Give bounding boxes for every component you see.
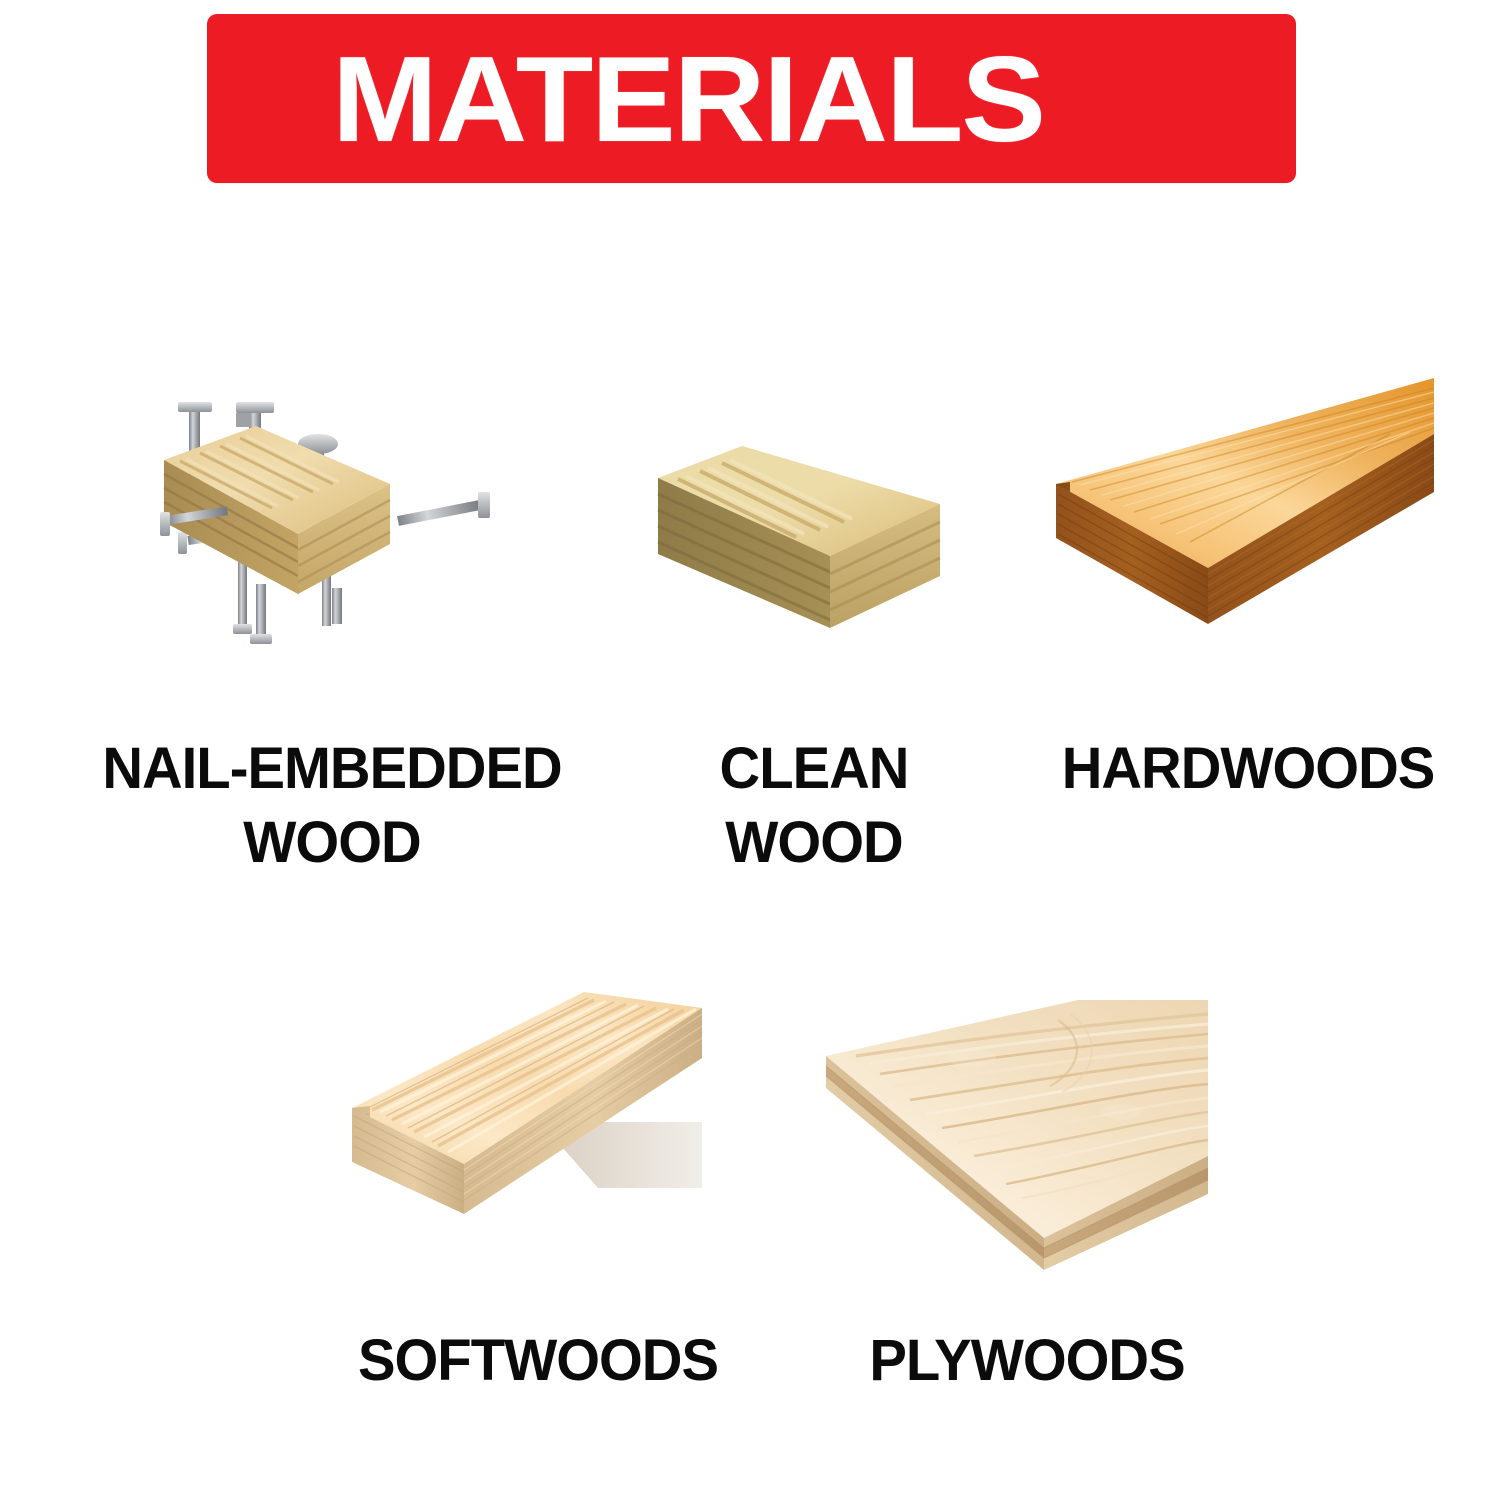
materials-infographic: MATERIALS — [0, 0, 1500, 1500]
label-line-1: HARDWOODS — [1062, 736, 1435, 801]
materials-banner: MATERIALS — [207, 14, 1296, 183]
material-label-nail-embedded-wood: NAIL-EMBEDDED WOOD — [70, 732, 594, 880]
nail-icon — [332, 588, 342, 624]
softwoods-illustration — [344, 982, 704, 1222]
nail-icon — [397, 492, 490, 526]
label-line-1: SOFTWOODS — [358, 1328, 718, 1393]
nail-icon — [250, 584, 272, 644]
label-line-1: PLYWOODS — [869, 1328, 1184, 1393]
clean-wood-illustration — [650, 438, 950, 628]
label-line-1: NAIL-EMBEDDED — [102, 736, 561, 801]
material-label-hardwoods: HARDWOODS — [1010, 732, 1485, 806]
material-label-clean-wood: CLEAN WOOD — [701, 732, 926, 880]
label-line-2: WOOD — [701, 806, 926, 880]
page-title: MATERIALS — [332, 38, 1044, 160]
material-label-softwoods: SOFTWOODS — [325, 1324, 752, 1398]
label-line-1: CLEAN — [720, 736, 909, 801]
nail-embedded-wood-illustration — [160, 388, 516, 658]
plywoods-illustration — [822, 1000, 1212, 1280]
hardwoods-illustration — [1050, 372, 1440, 652]
material-label-plywoods: PLYWOODS — [844, 1324, 1211, 1398]
label-line-2: WOOD — [70, 806, 594, 880]
